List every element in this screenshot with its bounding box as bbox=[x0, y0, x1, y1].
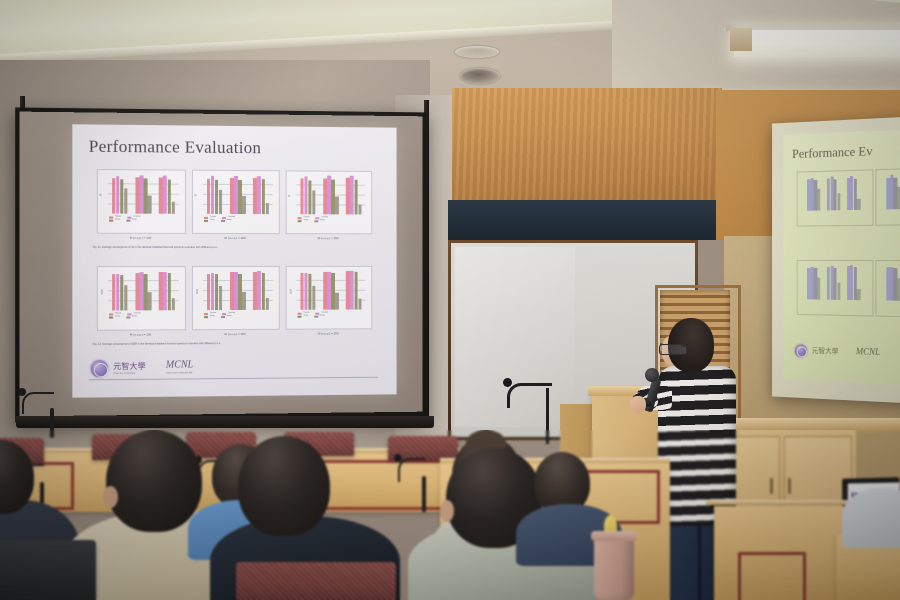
secondary-projected-slide: Performance Ev 元智大學 MCNL bbox=[784, 129, 900, 385]
auditorium-seat[interactable] bbox=[236, 562, 396, 600]
chart-ylabel: SI bbox=[195, 194, 198, 196]
legend-swatch bbox=[314, 316, 318, 318]
lab-name: MCNL bbox=[856, 346, 880, 357]
figure-caption: Fig. 12. Average convergence of SDR in t… bbox=[93, 342, 221, 346]
desk-edge bbox=[706, 500, 852, 505]
chart-bar bbox=[171, 202, 175, 214]
legend-swatch bbox=[221, 220, 225, 222]
tumbler-lid[interactable] bbox=[591, 531, 637, 541]
slide-title: Performance Evaluation bbox=[89, 137, 262, 159]
chart-bar bbox=[124, 285, 128, 310]
secondary-slide-title: Performance Ev bbox=[792, 143, 873, 162]
chart-bar bbox=[312, 285, 316, 309]
panel-caption: M (n.o.p.) = 200 bbox=[192, 332, 278, 336]
chart-bar bbox=[219, 190, 223, 214]
chart-legend: GreedyRandom bbox=[109, 220, 141, 222]
chart-legend: ProposedCentralized bbox=[109, 217, 145, 219]
legend-swatch bbox=[314, 220, 318, 222]
chart-panel bbox=[875, 167, 900, 226]
legend-swatch bbox=[204, 316, 208, 318]
chart-bar bbox=[167, 273, 171, 310]
chart-bar bbox=[219, 286, 223, 310]
legend-swatch bbox=[109, 317, 113, 319]
legend-label: Greedy bbox=[210, 316, 215, 318]
legend-label: Random bbox=[132, 317, 137, 319]
chart-legend: ProposedCentralized bbox=[204, 313, 239, 315]
chart-bar bbox=[312, 190, 316, 214]
gooseneck-mic-stem bbox=[422, 476, 426, 512]
chart-bar bbox=[163, 272, 167, 311]
legend-label: Proposed bbox=[303, 217, 309, 219]
chart-legend: GreedyRandom bbox=[204, 220, 236, 222]
chart-bar bbox=[120, 275, 124, 311]
panel-caption: M (n.o.p.) = 250 bbox=[286, 236, 371, 240]
legend-label: Centralized bbox=[133, 313, 140, 315]
chart-ylabel: SDR bbox=[196, 289, 199, 294]
legend-label: Proposed bbox=[210, 217, 216, 219]
chart-legend: GreedyRandom bbox=[109, 317, 141, 319]
legend-label: Random bbox=[320, 316, 325, 318]
chart-bar bbox=[148, 292, 152, 311]
legend-label: Centralized bbox=[133, 217, 140, 219]
chart-panel bbox=[797, 169, 874, 226]
legend-label: Greedy bbox=[115, 220, 120, 222]
chart-ylabel: SDR bbox=[290, 289, 293, 294]
chart-bar bbox=[124, 189, 128, 214]
legend-swatch bbox=[298, 313, 302, 315]
gooseneck-mic-stem bbox=[50, 408, 54, 438]
legend-label: Proposed bbox=[303, 313, 309, 315]
audience-head bbox=[238, 436, 330, 536]
chart-legend: ProposedCentralized bbox=[298, 217, 332, 219]
legend-swatch bbox=[126, 220, 130, 222]
legend-swatch bbox=[222, 217, 226, 219]
legend-swatch bbox=[109, 217, 113, 219]
microphone-icon bbox=[394, 454, 402, 462]
speaker-leg-seam bbox=[698, 520, 701, 600]
university-name-cjk: 元智大學 bbox=[113, 361, 145, 372]
legend-swatch bbox=[126, 317, 130, 319]
chart-bar bbox=[116, 274, 120, 311]
legend-label: Random bbox=[227, 220, 232, 222]
panel-caption: M (n.o.p.) = 200 bbox=[192, 236, 278, 240]
legend-label: Greedy bbox=[303, 220, 308, 222]
chart-bar bbox=[257, 271, 261, 310]
chart-legend: GreedyRandom bbox=[298, 316, 329, 318]
lectern-mic-arm bbox=[507, 383, 552, 408]
chart-bar bbox=[207, 274, 211, 310]
navy-wall-band bbox=[448, 200, 728, 240]
projected-slide: Performance Evaluation ProposedCentraliz… bbox=[72, 124, 396, 397]
chart-bar bbox=[335, 293, 339, 310]
legend-label: Random bbox=[132, 220, 137, 222]
legend-label: Centralized bbox=[321, 313, 328, 315]
chart-panel bbox=[797, 260, 874, 317]
chart-ylabel: SI bbox=[100, 194, 103, 196]
chart-bar bbox=[335, 197, 339, 214]
legend-label: Centralized bbox=[321, 217, 328, 219]
legend-label: Random bbox=[227, 316, 232, 318]
chart-bar bbox=[167, 179, 171, 214]
legend-label: Greedy bbox=[210, 220, 215, 222]
slide-footer-divider bbox=[89, 377, 378, 381]
legend-swatch bbox=[204, 313, 208, 315]
travel-tumbler[interactable] bbox=[594, 536, 634, 600]
chart-bar bbox=[358, 299, 362, 310]
legend-label: Proposed bbox=[115, 217, 121, 219]
screen-bottom-bar bbox=[16, 416, 434, 428]
chart-bar bbox=[120, 179, 124, 214]
lecture-hall-photo: Performance Evaluation ProposedCentraliz… bbox=[0, 0, 900, 600]
monitor-chart-layer bbox=[848, 482, 899, 483]
legend-swatch bbox=[315, 313, 319, 315]
chart-legend: ProposedCentralized bbox=[204, 217, 239, 219]
wood-panel-grain bbox=[452, 88, 722, 206]
chart-panel bbox=[875, 260, 900, 318]
chart-bar bbox=[207, 179, 211, 214]
ceiling-fluorescent-light bbox=[734, 30, 900, 57]
chart-bar bbox=[242, 292, 246, 310]
panel-caption: M (n.o.p.) = 250 bbox=[286, 331, 371, 335]
legend-label: Random bbox=[320, 220, 325, 222]
legend-swatch bbox=[298, 217, 302, 219]
legend-label: Centralized bbox=[228, 217, 235, 219]
cabinet-handle[interactable] bbox=[770, 478, 773, 494]
fluorescent-end-cap bbox=[730, 28, 752, 51]
legend-swatch bbox=[127, 217, 131, 219]
chart-ylabel: SDR bbox=[101, 289, 104, 294]
chart-legend: GreedyRandom bbox=[298, 220, 329, 222]
microphone-icon bbox=[18, 388, 26, 396]
chart-bar bbox=[112, 178, 116, 214]
chart-bar bbox=[163, 176, 167, 214]
auditorium-seat[interactable] bbox=[0, 540, 96, 600]
university-seal-icon bbox=[795, 344, 807, 357]
university-name-cjk: 元智大學 bbox=[812, 346, 839, 357]
chart-bar bbox=[116, 176, 120, 214]
legend-label: Centralized bbox=[228, 313, 235, 315]
audience-ear bbox=[103, 486, 118, 508]
legend-label: Proposed bbox=[115, 313, 121, 315]
legend-swatch bbox=[298, 220, 302, 222]
legend-swatch bbox=[221, 316, 225, 318]
downlight-icon bbox=[460, 68, 500, 84]
chart-ylabel: SI bbox=[288, 195, 291, 197]
figure-caption: Fig. 11. Average convergence of SI in th… bbox=[93, 246, 218, 249]
legend-label: Proposed bbox=[210, 313, 216, 315]
speaker-hand bbox=[630, 396, 646, 413]
university-seal-icon bbox=[91, 360, 108, 377]
legend-swatch bbox=[109, 313, 113, 315]
panel-caption: M (n.o.p.) = 100 bbox=[97, 332, 184, 337]
desk-decorative-panel bbox=[738, 552, 806, 600]
legend-swatch bbox=[315, 217, 319, 219]
legend-swatch bbox=[127, 313, 131, 315]
lab-name: MCNL bbox=[166, 359, 193, 370]
legend-swatch bbox=[109, 220, 113, 222]
microphone-head-icon bbox=[645, 368, 659, 382]
university-name-sub: Yuan Ze University bbox=[113, 372, 135, 375]
chart-bar bbox=[242, 196, 246, 214]
chart-legend: GreedyRandom bbox=[204, 316, 236, 318]
audience-member bbox=[842, 488, 900, 548]
audience-ear bbox=[440, 500, 454, 522]
legend-swatch bbox=[204, 217, 208, 219]
microphone-icon bbox=[503, 378, 512, 387]
chart-bar bbox=[265, 298, 269, 310]
legend-label: Greedy bbox=[115, 317, 120, 319]
legend-label: Greedy bbox=[303, 316, 308, 318]
chart-bar bbox=[148, 195, 152, 214]
cabinet-handle[interactable] bbox=[788, 478, 791, 494]
legend-swatch bbox=[204, 220, 208, 222]
chart-legend: ProposedCentralized bbox=[109, 313, 145, 315]
downlight-icon bbox=[455, 46, 499, 58]
audience-head bbox=[106, 430, 202, 532]
lab-url: www.mcnl.example.lab bbox=[166, 371, 193, 374]
chart-bar bbox=[358, 204, 362, 214]
legend-swatch bbox=[222, 313, 226, 315]
legend-swatch bbox=[298, 316, 302, 318]
panel-caption: M (n.o.p.) = 100 bbox=[97, 236, 184, 240]
chart-bar bbox=[112, 274, 116, 310]
chart-legend: ProposedCentralized bbox=[298, 313, 332, 315]
chart-bar bbox=[257, 176, 261, 214]
chart-bar bbox=[171, 298, 175, 310]
chart-bar bbox=[265, 203, 269, 214]
